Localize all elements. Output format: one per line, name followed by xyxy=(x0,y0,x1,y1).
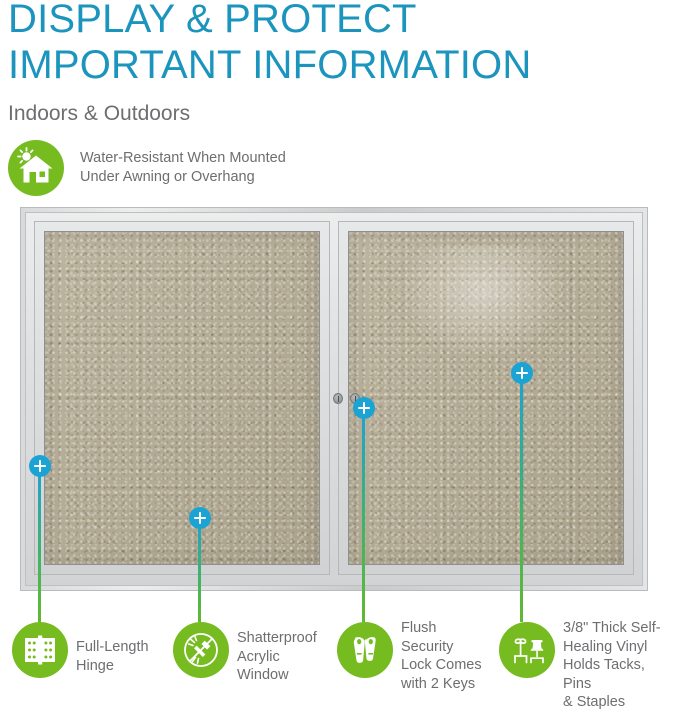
feature-label: Shatterproof Acrylic Window xyxy=(237,629,317,685)
feature-label: Full-Length Hinge xyxy=(76,638,149,675)
feature-shatterproof-acrylic-window: Shatterproof Acrylic Window xyxy=(173,622,333,688)
no-hammer-icon xyxy=(173,622,229,678)
vinyl-board-left xyxy=(44,231,320,565)
hinge-icon xyxy=(12,622,68,678)
connector-security-lock xyxy=(362,408,365,622)
water-resistant-callout: Water-Resistant When Mounted Under Awnin… xyxy=(8,140,408,198)
feature-label: Flush Security Lock Comes with 2 Keys xyxy=(401,619,482,693)
connector-acrylic-window xyxy=(198,518,201,622)
lock-cylinder-left xyxy=(333,393,343,404)
house-sun-icon xyxy=(8,140,64,196)
vinyl-board-right xyxy=(348,231,624,565)
feature-flush-security-lock: Flush Security Lock Comes with 2 Keys xyxy=(337,622,497,698)
two-keys-icon xyxy=(337,622,393,678)
marker-acrylic-window[interactable] xyxy=(189,507,211,529)
infographic-page: DISPLAY & PROTECT IMPORTANT INFORMATION … xyxy=(0,0,679,698)
marker-hinge[interactable] xyxy=(29,455,51,477)
feature-self-healing-vinyl: 3/8" Thick Self- Healing Vinyl Holds Tac… xyxy=(499,622,675,698)
page-subtitle: Indoors & Outdoors xyxy=(8,101,190,127)
door-left xyxy=(34,221,330,575)
marker-security-lock[interactable] xyxy=(353,397,375,419)
feature-full-length-hinge: Full-Length Hinge xyxy=(12,622,172,688)
connector-vinyl-surface xyxy=(520,373,523,622)
water-resistant-label: Water-Resistant When Mounted Under Awnin… xyxy=(80,149,286,187)
door-right xyxy=(338,221,634,575)
page-title: DISPLAY & PROTECT IMPORTANT INFORMATION xyxy=(8,0,668,88)
connector-hinge xyxy=(38,466,41,622)
product-image xyxy=(20,207,648,591)
pushpin-tack-icon xyxy=(499,622,555,678)
marker-vinyl-surface[interactable] xyxy=(511,362,533,384)
